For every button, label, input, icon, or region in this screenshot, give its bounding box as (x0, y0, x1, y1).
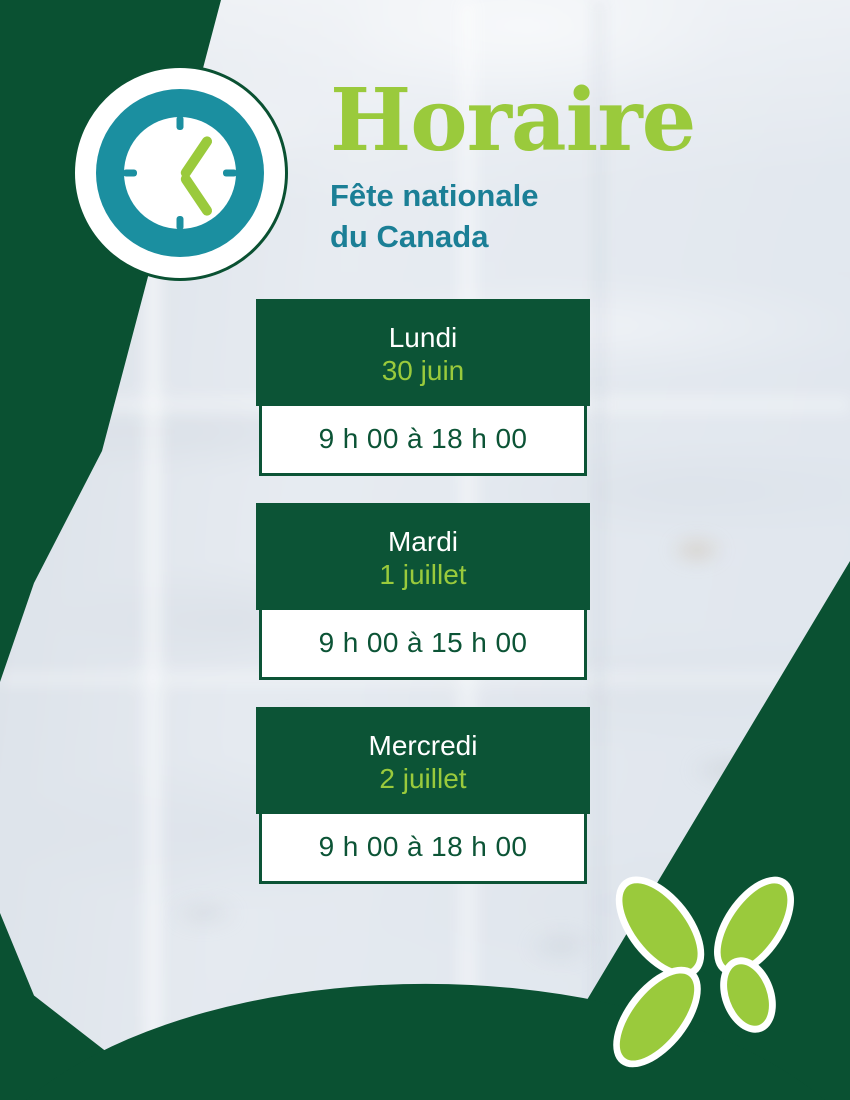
schedule-date-label: 2 juillet (266, 762, 580, 795)
poster-header: Horaire Fête nationale du Canada (0, 0, 850, 290)
page-subtitle: Fête nationale du Canada (330, 176, 695, 258)
clock-face (124, 117, 236, 229)
clock-teal-ring (96, 89, 264, 257)
schedule-day-label: Mardi (266, 525, 580, 558)
schedule-list: Lundi 30 juin 9 h 00 à 18 h 00 Mardi 1 j… (256, 299, 590, 911)
clock-icon (72, 65, 288, 281)
title-block: Horaire Fête nationale du Canada (330, 78, 695, 258)
schedule-card: Mardi 1 juillet 9 h 00 à 15 h 00 (256, 503, 590, 680)
schedule-card: Mercredi 2 juillet 9 h 00 à 18 h 00 (256, 707, 590, 884)
schedule-hours-label: 9 h 00 à 18 h 00 (259, 814, 587, 884)
clock-tick-3-icon (223, 170, 237, 177)
schedule-card-header: Lundi 30 juin (256, 299, 590, 406)
schedule-day-label: Mercredi (266, 729, 580, 762)
schedule-hours-label: 9 h 00 à 15 h 00 (259, 610, 587, 680)
page-title: Horaire (330, 78, 695, 164)
clock-tick-9-icon (123, 170, 137, 177)
schedule-card-header: Mercredi 2 juillet (256, 707, 590, 814)
butterfly-logo-icon (612, 852, 834, 1074)
clock-tick-12-icon (177, 116, 184, 130)
schedule-poster: Horaire Fête nationale du Canada Lundi 3… (0, 0, 850, 1100)
schedule-date-label: 30 juin (266, 354, 580, 387)
schedule-hours-label: 9 h 00 à 18 h 00 (259, 406, 587, 476)
butterfly-petal-bottom-left-icon (596, 951, 718, 1082)
schedule-card: Lundi 30 juin 9 h 00 à 18 h 00 (256, 299, 590, 476)
schedule-card-header: Mardi 1 juillet (256, 503, 590, 610)
schedule-day-label: Lundi (266, 321, 580, 354)
clock-hand-minute (179, 172, 214, 217)
schedule-date-label: 1 juillet (266, 558, 580, 591)
clock-tick-6-icon (177, 216, 184, 230)
